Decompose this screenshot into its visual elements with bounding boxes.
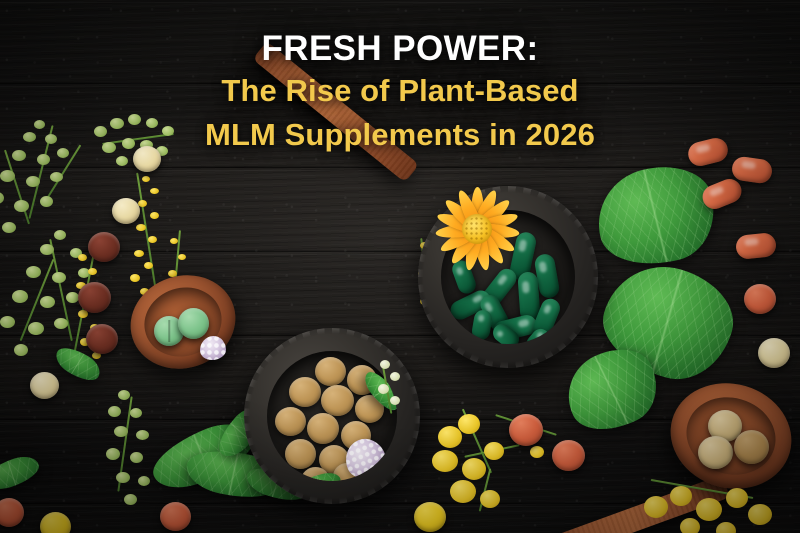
calendula-flower [440, 192, 514, 266]
bowl-capsules [418, 186, 598, 368]
herbal-tablet-6 [275, 407, 306, 436]
herbal-tablet-3 [289, 377, 321, 407]
title-line-3: MLM Supplements in 2026 [0, 115, 800, 155]
banner-image: FRESH POWER: The Rise of Plant-Based MLM… [0, 0, 800, 533]
coral-tablet-right [744, 284, 776, 314]
st-johns-wort-cluster-bottom-right [640, 468, 780, 533]
cream-tablet-top-2 [112, 198, 140, 224]
cream-tablet-left-low [30, 372, 59, 399]
brown-tablet-1 [88, 232, 120, 262]
yellow-tablet-bottom-left [40, 512, 71, 533]
herbal-tablet-4 [321, 385, 354, 416]
cream-tablet-2 [698, 436, 733, 469]
mint-tablet-2 [178, 308, 209, 339]
herbal-tablet-7 [307, 413, 339, 444]
cream-tablet-3 [734, 430, 769, 464]
coral-tablet-mid-2 [552, 440, 585, 471]
title-line-2: The Rise of Plant-Based [0, 71, 800, 111]
herbal-tablet-1 [315, 357, 346, 386]
brown-tablet-2 [78, 282, 111, 313]
flower-center [462, 214, 492, 244]
st-johns-wort-cluster [424, 398, 564, 518]
brown-tablet-3 [86, 324, 118, 354]
clover-blossom-spoon [200, 336, 226, 360]
yellow-tablet-bottom-mid [414, 502, 446, 532]
herbal-tablet-9 [285, 439, 316, 469]
title-line-1: FRESH POWER: [0, 30, 800, 67]
coral-tablet-mid-1 [509, 414, 543, 446]
coral-tablet-bottom-left [160, 502, 191, 531]
cream-tablet-right [758, 338, 790, 368]
title-block: FRESH POWER: The Rise of Plant-Based MLM… [0, 30, 800, 156]
white-blossom-sprig [368, 360, 414, 420]
